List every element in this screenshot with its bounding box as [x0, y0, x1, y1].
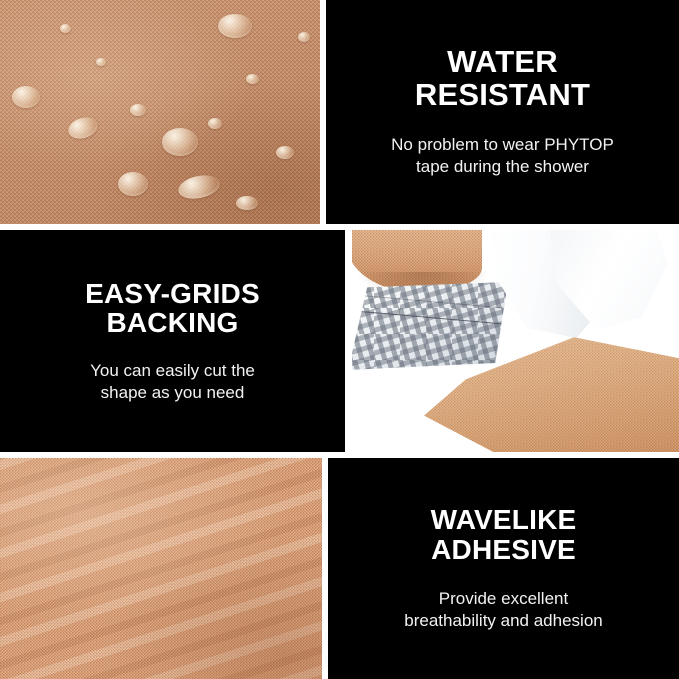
subline-easy-grids-backing: You can easily cut the shape as you need	[90, 360, 255, 404]
headline-easy-grids-backing: EASY-GRIDS BACKING	[85, 279, 260, 338]
weave-shading	[0, 0, 320, 224]
water-droplet	[162, 128, 198, 156]
water-droplet	[96, 58, 106, 66]
photo-easy-grids-backing	[352, 230, 679, 452]
headline-wavelike-adhesive: WAVELIKE ADHESIVE	[431, 505, 577, 564]
water-droplet	[12, 86, 40, 108]
subline-wavelike-adhesive: Provide excellent breathability and adhe…	[404, 588, 602, 632]
text-panel-easy-grids-backing: EASY-GRIDS BACKING You can easily cut th…	[0, 230, 345, 452]
water-droplet	[130, 104, 146, 116]
photo-wavelike-adhesive	[0, 458, 322, 679]
infographic-sheet: WATER RESISTANT No problem to wear PHYTO…	[0, 0, 679, 679]
water-droplet	[236, 196, 258, 210]
water-droplet	[208, 118, 222, 129]
grid-dashes	[352, 282, 508, 370]
water-droplet	[276, 146, 294, 159]
text-panel-water-resistant: WATER RESISTANT No problem to wear PHYTO…	[326, 0, 679, 224]
water-droplet	[246, 74, 259, 84]
photo-water-resistant	[0, 0, 320, 224]
water-droplet	[298, 32, 310, 42]
subline-water-resistant: No problem to wear PHYTOP tape during th…	[391, 134, 614, 178]
water-droplet	[118, 172, 148, 196]
headline-water-resistant: WATER RESISTANT	[415, 46, 590, 112]
water-droplet	[60, 24, 71, 33]
wave-shading	[0, 458, 322, 679]
water-droplet	[218, 14, 252, 38]
text-panel-wavelike-adhesive: WAVELIKE ADHESIVE Provide excellent brea…	[328, 458, 679, 679]
grid-backing-flap	[352, 282, 508, 370]
